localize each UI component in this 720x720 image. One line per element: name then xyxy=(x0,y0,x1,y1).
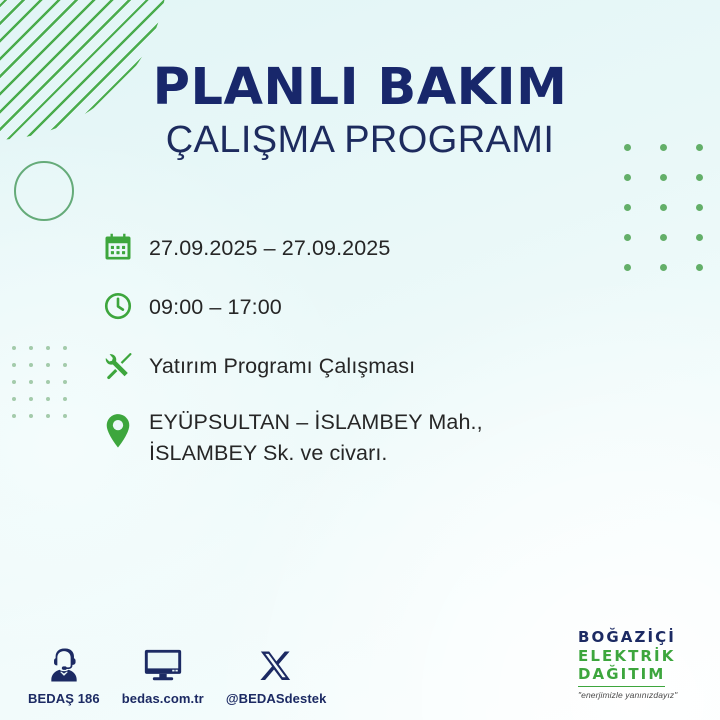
logo-line-elektrik: ELEKTRİK xyxy=(578,647,700,666)
page-title: PLANLI BAKIM xyxy=(0,62,720,114)
circle-outline-decoration xyxy=(14,161,74,221)
detail-row-work-type: Yatırım Programı Çalışması xyxy=(96,344,656,386)
tools-icon xyxy=(96,344,140,386)
maintenance-time-range: 09:00 – 17:00 xyxy=(149,285,282,323)
map-pin-icon xyxy=(96,403,140,457)
contact-website-label: bedas.com.tr xyxy=(122,691,204,706)
call-center-agent-icon xyxy=(45,644,83,684)
detail-row-date: 27.09.2025 – 27.09.2025 xyxy=(96,226,656,268)
contact-channels: BEDAŞ 186 bedas.com.tr xyxy=(28,644,348,706)
logo-line-bogazici: BOĞAZİÇİ xyxy=(578,628,700,647)
contact-x-label: @BEDASdestek xyxy=(226,691,327,706)
page-subtitle: ÇALIŞMA PROGRAMI xyxy=(0,120,720,162)
location-line-2: İSLAMBEY Sk. ve civarı. xyxy=(149,441,388,465)
monitor-icon xyxy=(143,644,183,684)
x-twitter-icon xyxy=(259,644,293,684)
bedas-logo: BOĞAZİÇİ ELEKTRİK DAĞITIM "enerjimizle y… xyxy=(578,628,700,700)
maintenance-details: 27.09.2025 – 27.09.2025 09:00 – 17:00 xyxy=(96,226,656,468)
header: PLANLI BAKIM ÇALIŞMA PROGRAMI xyxy=(0,62,720,162)
contact-phone-label: BEDAŞ 186 xyxy=(28,691,100,706)
footer: BEDAŞ 186 bedas.com.tr xyxy=(0,610,720,720)
location-line-1: EYÜPSULTAN – İSLAMBEY Mah., xyxy=(149,410,483,434)
contact-phone[interactable]: BEDAŞ 186 xyxy=(28,644,100,706)
calendar-icon xyxy=(96,226,140,268)
planned-maintenance-card: PLANLI BAKIM ÇALIŞMA PROGRAMI xyxy=(0,0,720,720)
dot-grid-left-decoration xyxy=(12,346,80,431)
clock-icon xyxy=(96,285,140,327)
contact-website[interactable]: bedas.com.tr xyxy=(122,644,204,706)
detail-row-time: 09:00 – 17:00 xyxy=(96,285,656,327)
contact-x-account[interactable]: @BEDASdestek xyxy=(226,644,327,706)
detail-row-location: EYÜPSULTAN – İSLAMBEY Mah., İSLAMBEY Sk.… xyxy=(96,403,656,468)
maintenance-date-range: 27.09.2025 – 27.09.2025 xyxy=(149,226,390,264)
maintenance-work-type: Yatırım Programı Çalışması xyxy=(149,344,415,382)
logo-tagline: "enerjimizle yanınızdayız" xyxy=(578,690,700,700)
logo-line-dagitim: DAĞITIM xyxy=(578,665,665,687)
maintenance-location: EYÜPSULTAN – İSLAMBEY Mah., İSLAMBEY Sk.… xyxy=(149,403,483,468)
